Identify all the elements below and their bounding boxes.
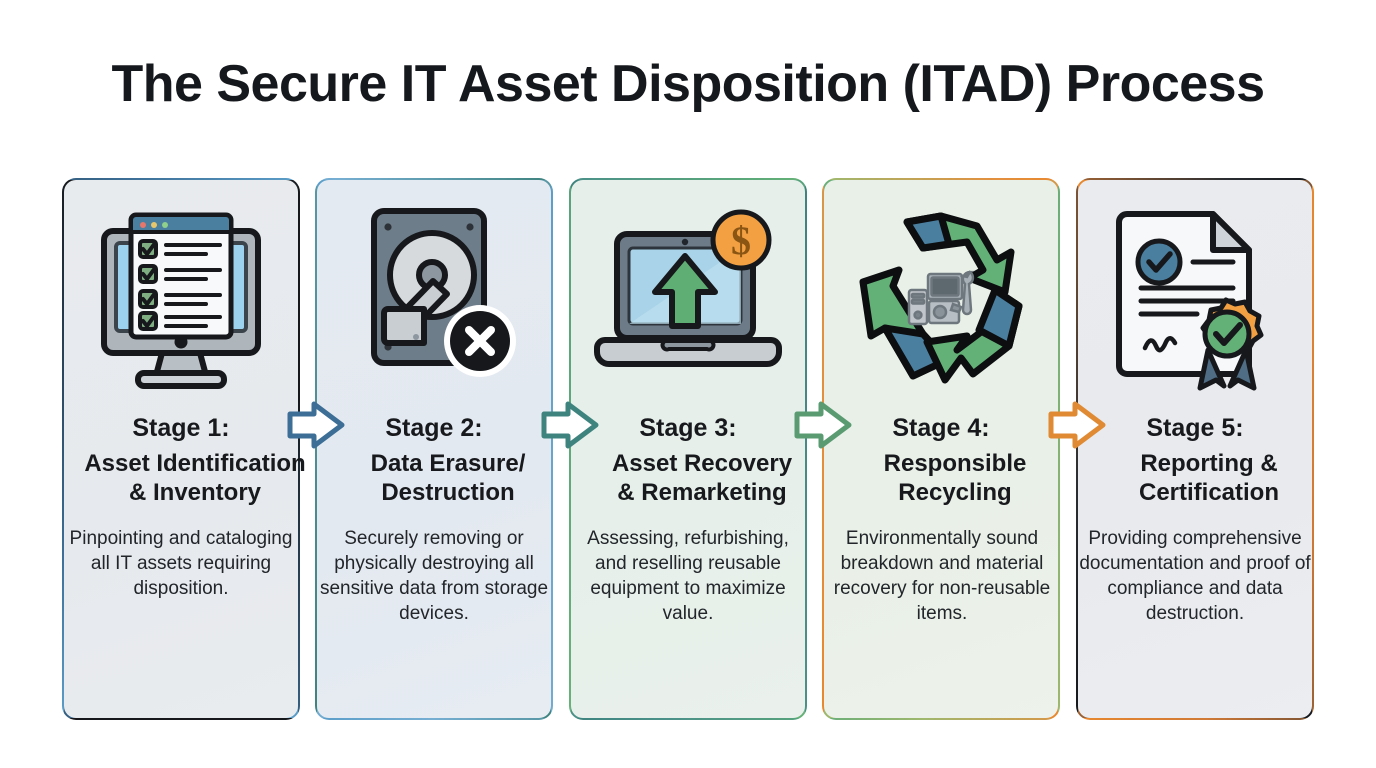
stage-card-2[interactable]: Stage 2: Data Erasure/ Destruction Secur… (315, 178, 553, 720)
stage-5-name: Reporting & Certification (1078, 449, 1340, 508)
arrow-stage2-to-stage3 (542, 400, 600, 450)
stage-card-1-body: Stage 1: Asset Identification & Inventor… (64, 180, 298, 718)
stage-card-3-border: $ Stage 3: Asset Recovery & Remarketing … (569, 178, 807, 720)
monitor-checklist-icon (64, 180, 298, 412)
stage-2-label: Stage 2: (385, 414, 482, 443)
stage-card-3[interactable]: $ Stage 3: Asset Recovery & Remarketing … (569, 178, 807, 720)
stage-card-2-body: Stage 2: Data Erasure/ Destruction Secur… (317, 180, 551, 718)
arrow-stage4-to-stage5 (1049, 400, 1107, 450)
stage-4-label: Stage 4: (892, 414, 989, 443)
arrow-stage3-to-stage4 (795, 400, 853, 450)
stage-5-label: Stage 5: (1146, 414, 1243, 443)
stage-2-description: Securely removing or physically destroyi… (319, 526, 549, 627)
stage-card-5-border: Stage 5: Reporting & Certification Provi… (1076, 178, 1314, 720)
stage-card-2-border: Stage 2: Data Erasure/ Destruction Secur… (315, 178, 553, 720)
harddrive-x-icon (317, 180, 551, 412)
stage-card-4[interactable]: Stage 4: Responsible Recycling Environme… (822, 178, 1060, 720)
stage-card-1-border: Stage 1: Asset Identification & Inventor… (62, 178, 300, 720)
recycling-equipment-icon (824, 180, 1058, 412)
stage-card-3-body: $ Stage 3: Asset Recovery & Remarketing … (571, 180, 805, 718)
stage-3-label: Stage 3: (639, 414, 736, 443)
page-title: The Secure IT Asset Disposition (ITAD) P… (0, 56, 1376, 113)
stage-card-4-border: Stage 4: Responsible Recycling Environme… (822, 178, 1060, 720)
stage-2-name: Data Erasure/ Destruction (317, 449, 579, 508)
stage-5-description: Providing comprehensive documentation an… (1079, 526, 1311, 627)
stage-1-name: Asset Identification & Inventory (64, 449, 326, 508)
stage-1-label: Stage 1: (132, 414, 229, 443)
stage-card-4-body: Stage 4: Responsible Recycling Environme… (824, 180, 1058, 718)
stage-card-1[interactable]: Stage 1: Asset Identification & Inventor… (62, 178, 300, 720)
laptop-uparrow-dollar-icon: $ (571, 180, 805, 412)
svg-text:$: $ (731, 218, 751, 263)
stage-3-name: Asset Recovery & Remarketing (571, 449, 833, 508)
stage-4-description: Environmentally sound breakdown and mate… (824, 526, 1060, 627)
stage-card-5-body: Stage 5: Reporting & Certification Provi… (1078, 180, 1312, 718)
process-flow: Stage 1: Asset Identification & Inventor… (62, 178, 1314, 720)
arrow-stage1-to-stage2 (288, 400, 346, 450)
stage-3-description: Assessing, refurbishing, and reselling r… (573, 526, 803, 627)
stage-1-description: Pinpointing and cataloging all IT assets… (66, 526, 296, 602)
stage-card-5[interactable]: Stage 5: Reporting & Certification Provi… (1076, 178, 1314, 720)
stage-4-name: Responsible Recycling (824, 449, 1086, 508)
certificate-seal-icon (1078, 180, 1312, 412)
